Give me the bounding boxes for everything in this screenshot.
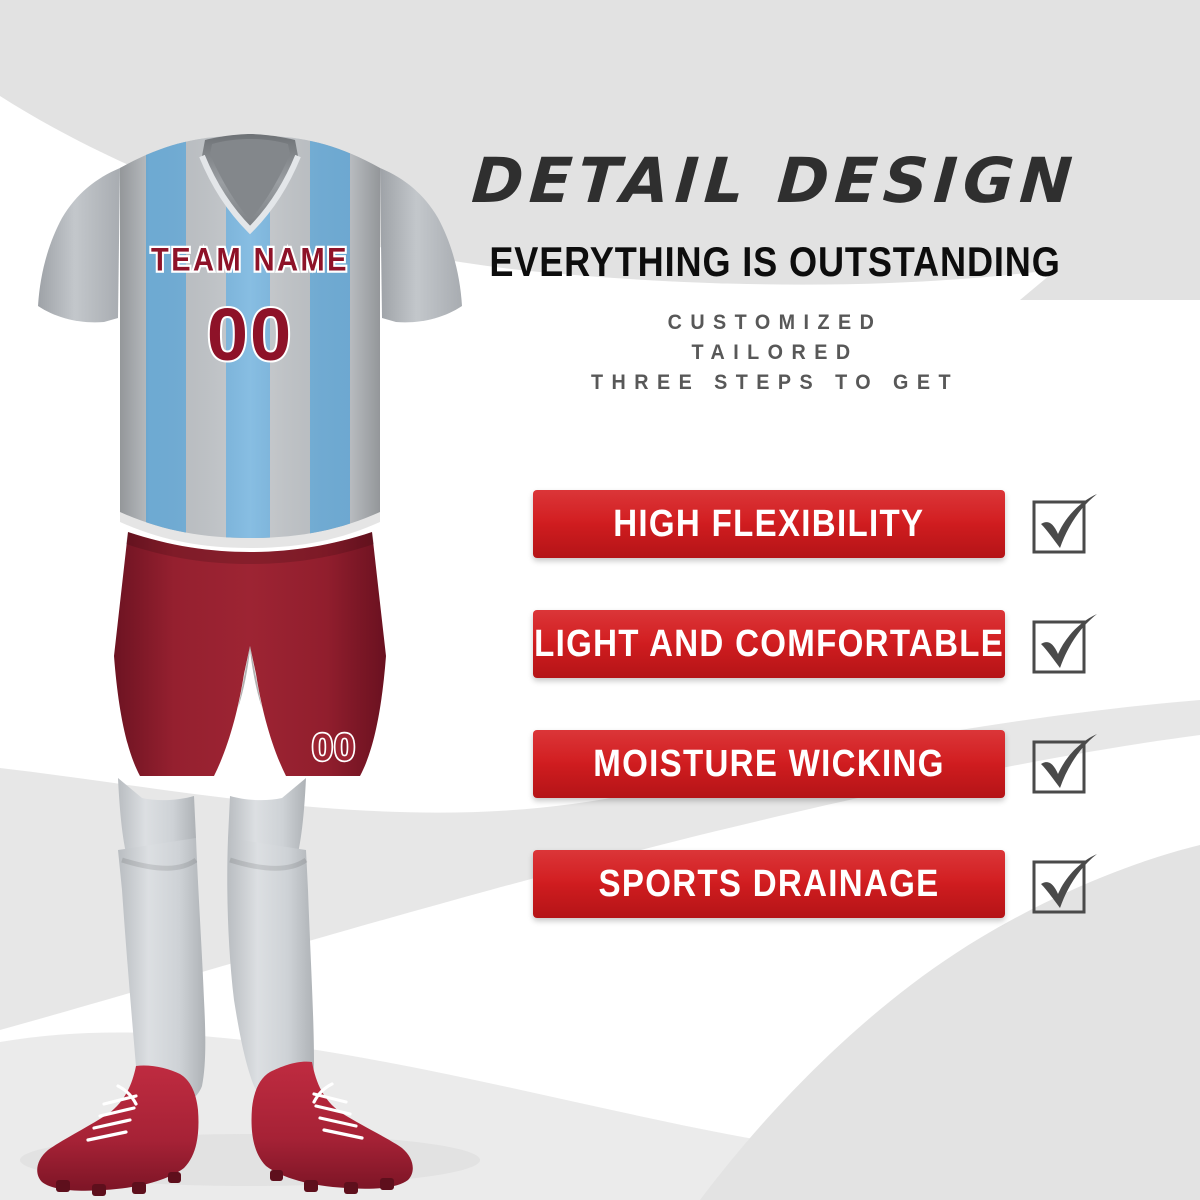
tagline-item: THREE STEPS TO GET: [451, 368, 1100, 398]
jersey-team-name: TEAM NAME: [151, 241, 349, 278]
checkbox-checked[interactable]: [1027, 728, 1103, 800]
feature-banner[interactable]: SPORTS DRAINAGE: [533, 850, 1005, 918]
shorts: 00: [114, 532, 386, 776]
feature-item-high-flexibility: HIGH FLEXIBILITY: [533, 490, 1143, 558]
socks: [118, 778, 314, 1105]
feature-item-light-and-comfortable: LIGHT AND COMFORTABLE: [533, 610, 1143, 678]
marketing-copy-panel: DETAIL DESIGN EVERYTHING IS OUTSTANDING …: [430, 150, 1150, 1030]
feature-item-moisture-wicking: MOISTURE WICKING: [533, 730, 1143, 798]
page-subtitle: EVERYTHING IS OUTSTANDING: [478, 238, 1071, 286]
jersey: TEAM NAME 00: [38, 130, 462, 550]
cleats: [37, 1062, 413, 1196]
checkbox-checked[interactable]: [1027, 608, 1103, 680]
jersey-number: 00: [207, 293, 293, 376]
feature-label: MOISTURE WICKING: [593, 743, 944, 786]
feature-item-sports-drainage: SPORTS DRAINAGE: [533, 850, 1143, 918]
product-detail-banner: TEAM NAME 00 00: [0, 0, 1200, 1200]
tagline-item: TAILORED: [451, 338, 1100, 368]
feature-list: HIGH FLEXIBILITY LIGHT AND COMFORTABLE: [533, 490, 1143, 970]
tagline-item: CUSTOMIZED: [451, 308, 1100, 338]
tagline-list: CUSTOMIZED TAILORED THREE STEPS TO GET: [430, 308, 1120, 397]
feature-banner[interactable]: HIGH FLEXIBILITY: [533, 490, 1005, 558]
page-title: DETAIL DESIGN: [428, 150, 1122, 212]
feature-label: HIGH FLEXIBILITY: [613, 503, 924, 546]
feature-banner[interactable]: MOISTURE WICKING: [533, 730, 1005, 798]
feature-label: SPORTS DRAINAGE: [598, 863, 939, 906]
checkbox-checked[interactable]: [1027, 488, 1103, 560]
feature-label: LIGHT AND COMFORTABLE: [534, 623, 1004, 666]
shorts-number: 00: [312, 727, 356, 769]
checkbox-checked[interactable]: [1027, 848, 1103, 920]
uniform-mockup: TEAM NAME 00 00: [0, 60, 500, 1200]
headline-block: DETAIL DESIGN EVERYTHING IS OUTSTANDING …: [430, 150, 1120, 397]
feature-banner[interactable]: LIGHT AND COMFORTABLE: [533, 610, 1005, 678]
